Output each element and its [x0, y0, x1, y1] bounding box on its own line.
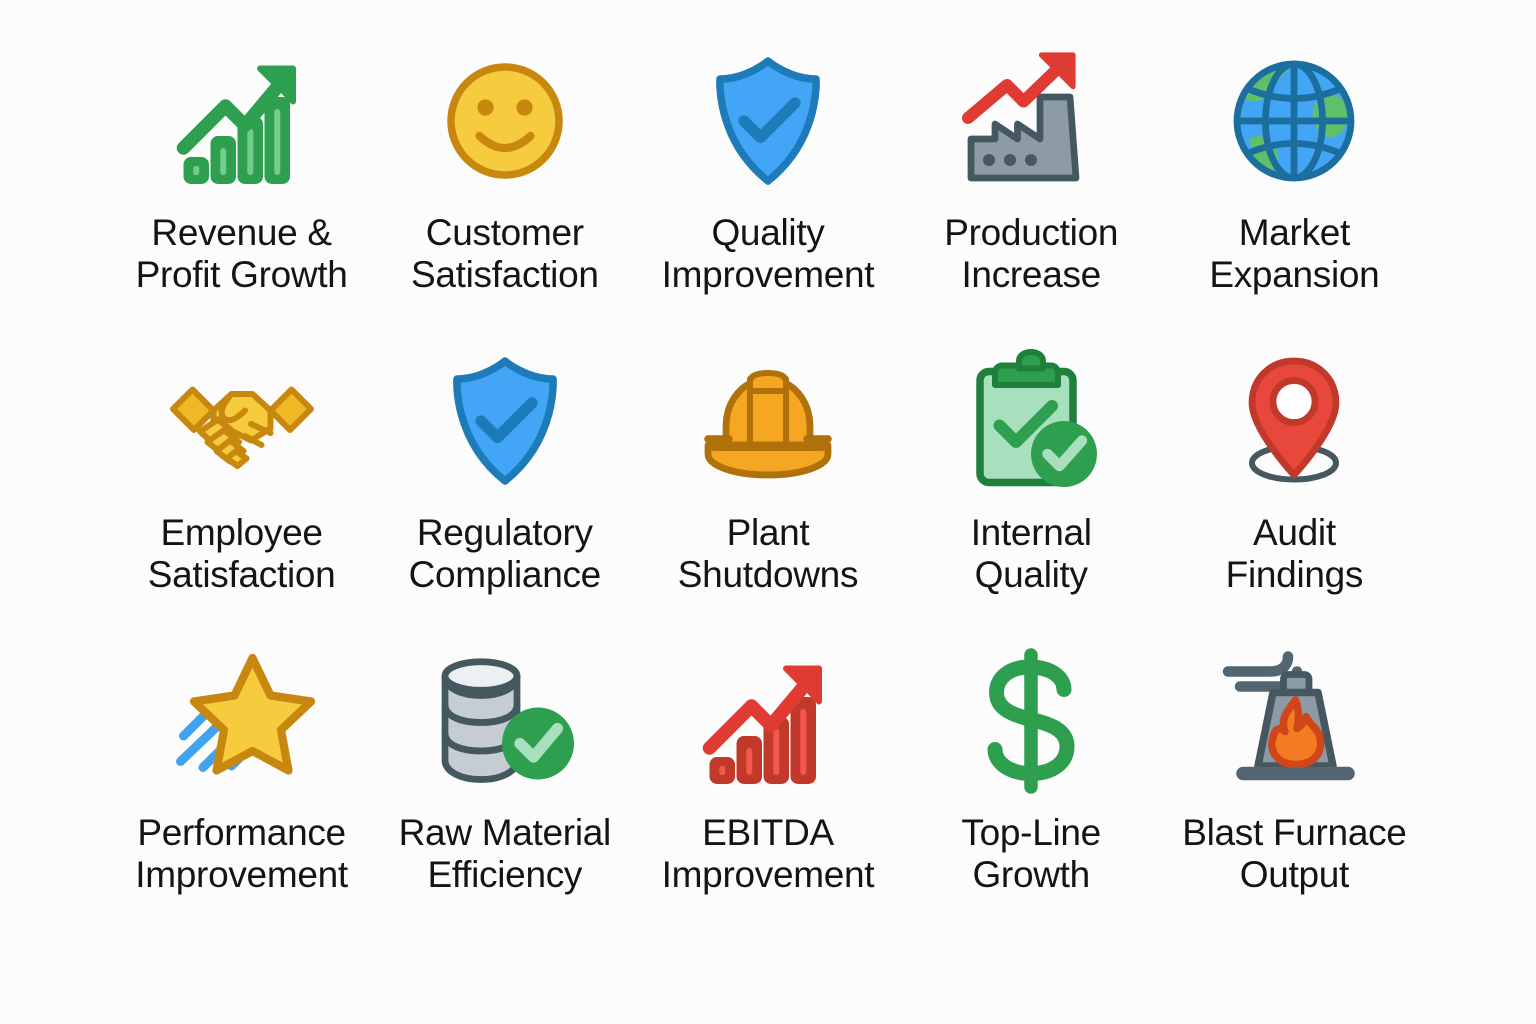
icon-label: Blast Furnace Output — [1182, 812, 1406, 896]
growth-bar-chart-red-icon — [693, 646, 843, 796]
factory-arrow-up-icon — [956, 46, 1106, 196]
hard-hat-icon — [693, 346, 843, 496]
icon-cell-production-increase[interactable]: Production Increase — [900, 46, 1163, 346]
dollar-sign-icon — [956, 646, 1106, 796]
icon-label: Raw Material Efficiency — [399, 812, 611, 896]
icon-cell-internal-quality[interactable]: Internal Quality — [900, 346, 1163, 646]
icon-label: Employee Satisfaction — [148, 512, 336, 596]
icon-cell-ebitda-improvement[interactable]: EBITDA Improvement — [636, 646, 899, 946]
icon-label: EBITDA Improvement — [662, 812, 875, 896]
globe-icon — [1219, 46, 1369, 196]
icon-label: Quality Improvement — [662, 212, 875, 296]
handshake-icon — [167, 346, 317, 496]
icon-cell-raw-material-efficiency[interactable]: Raw Material Efficiency — [373, 646, 636, 946]
icon-cell-market-expansion[interactable]: Market Expansion — [1163, 46, 1426, 346]
icon-cell-customer-satisfaction[interactable]: Customer Satisfaction — [373, 46, 636, 346]
shield-check-icon — [693, 46, 843, 196]
growth-bar-chart-green-icon — [167, 46, 317, 196]
icon-label: Production Increase — [944, 212, 1118, 296]
icon-label: Audit Findings — [1226, 512, 1363, 596]
icon-label: Customer Satisfaction — [411, 212, 599, 296]
icon-label: Internal Quality — [971, 512, 1092, 596]
icon-cell-revenue-profit-growth[interactable]: Revenue & Profit Growth — [110, 46, 373, 346]
smiley-face-icon — [430, 46, 580, 196]
icon-cell-top-line-growth[interactable]: Top-Line Growth — [900, 646, 1163, 946]
map-pin-icon — [1219, 346, 1369, 496]
blast-furnace-icon — [1219, 646, 1369, 796]
icon-label: Plant Shutdowns — [678, 512, 858, 596]
shield-check-icon — [430, 346, 580, 496]
database-check-icon — [430, 646, 580, 796]
icon-cell-performance-improvement[interactable]: Performance Improvement — [110, 646, 373, 946]
icon-cell-plant-shutdowns[interactable]: Plant Shutdowns — [636, 346, 899, 646]
icon-label: Performance Improvement — [135, 812, 348, 896]
clipboard-check-icon — [956, 346, 1106, 496]
icon-label: Top-Line Growth — [961, 812, 1101, 896]
icon-cell-employee-satisfaction[interactable]: Employee Satisfaction — [110, 346, 373, 646]
icon-cell-blast-furnace-output[interactable]: Blast Furnace Output — [1163, 646, 1426, 946]
icon-cell-quality-improvement[interactable]: Quality Improvement — [636, 46, 899, 346]
icon-label: Revenue & Profit Growth — [136, 212, 348, 296]
icon-label: Regulatory Compliance — [409, 512, 601, 596]
icon-cell-audit-findings[interactable]: Audit Findings — [1163, 346, 1426, 646]
icon-grid: Revenue & Profit Growth Customer Satisfa… — [0, 0, 1536, 1024]
icon-label: Market Expansion — [1209, 212, 1379, 296]
shooting-star-icon — [167, 646, 317, 796]
icon-cell-regulatory-compliance[interactable]: Regulatory Compliance — [373, 346, 636, 646]
